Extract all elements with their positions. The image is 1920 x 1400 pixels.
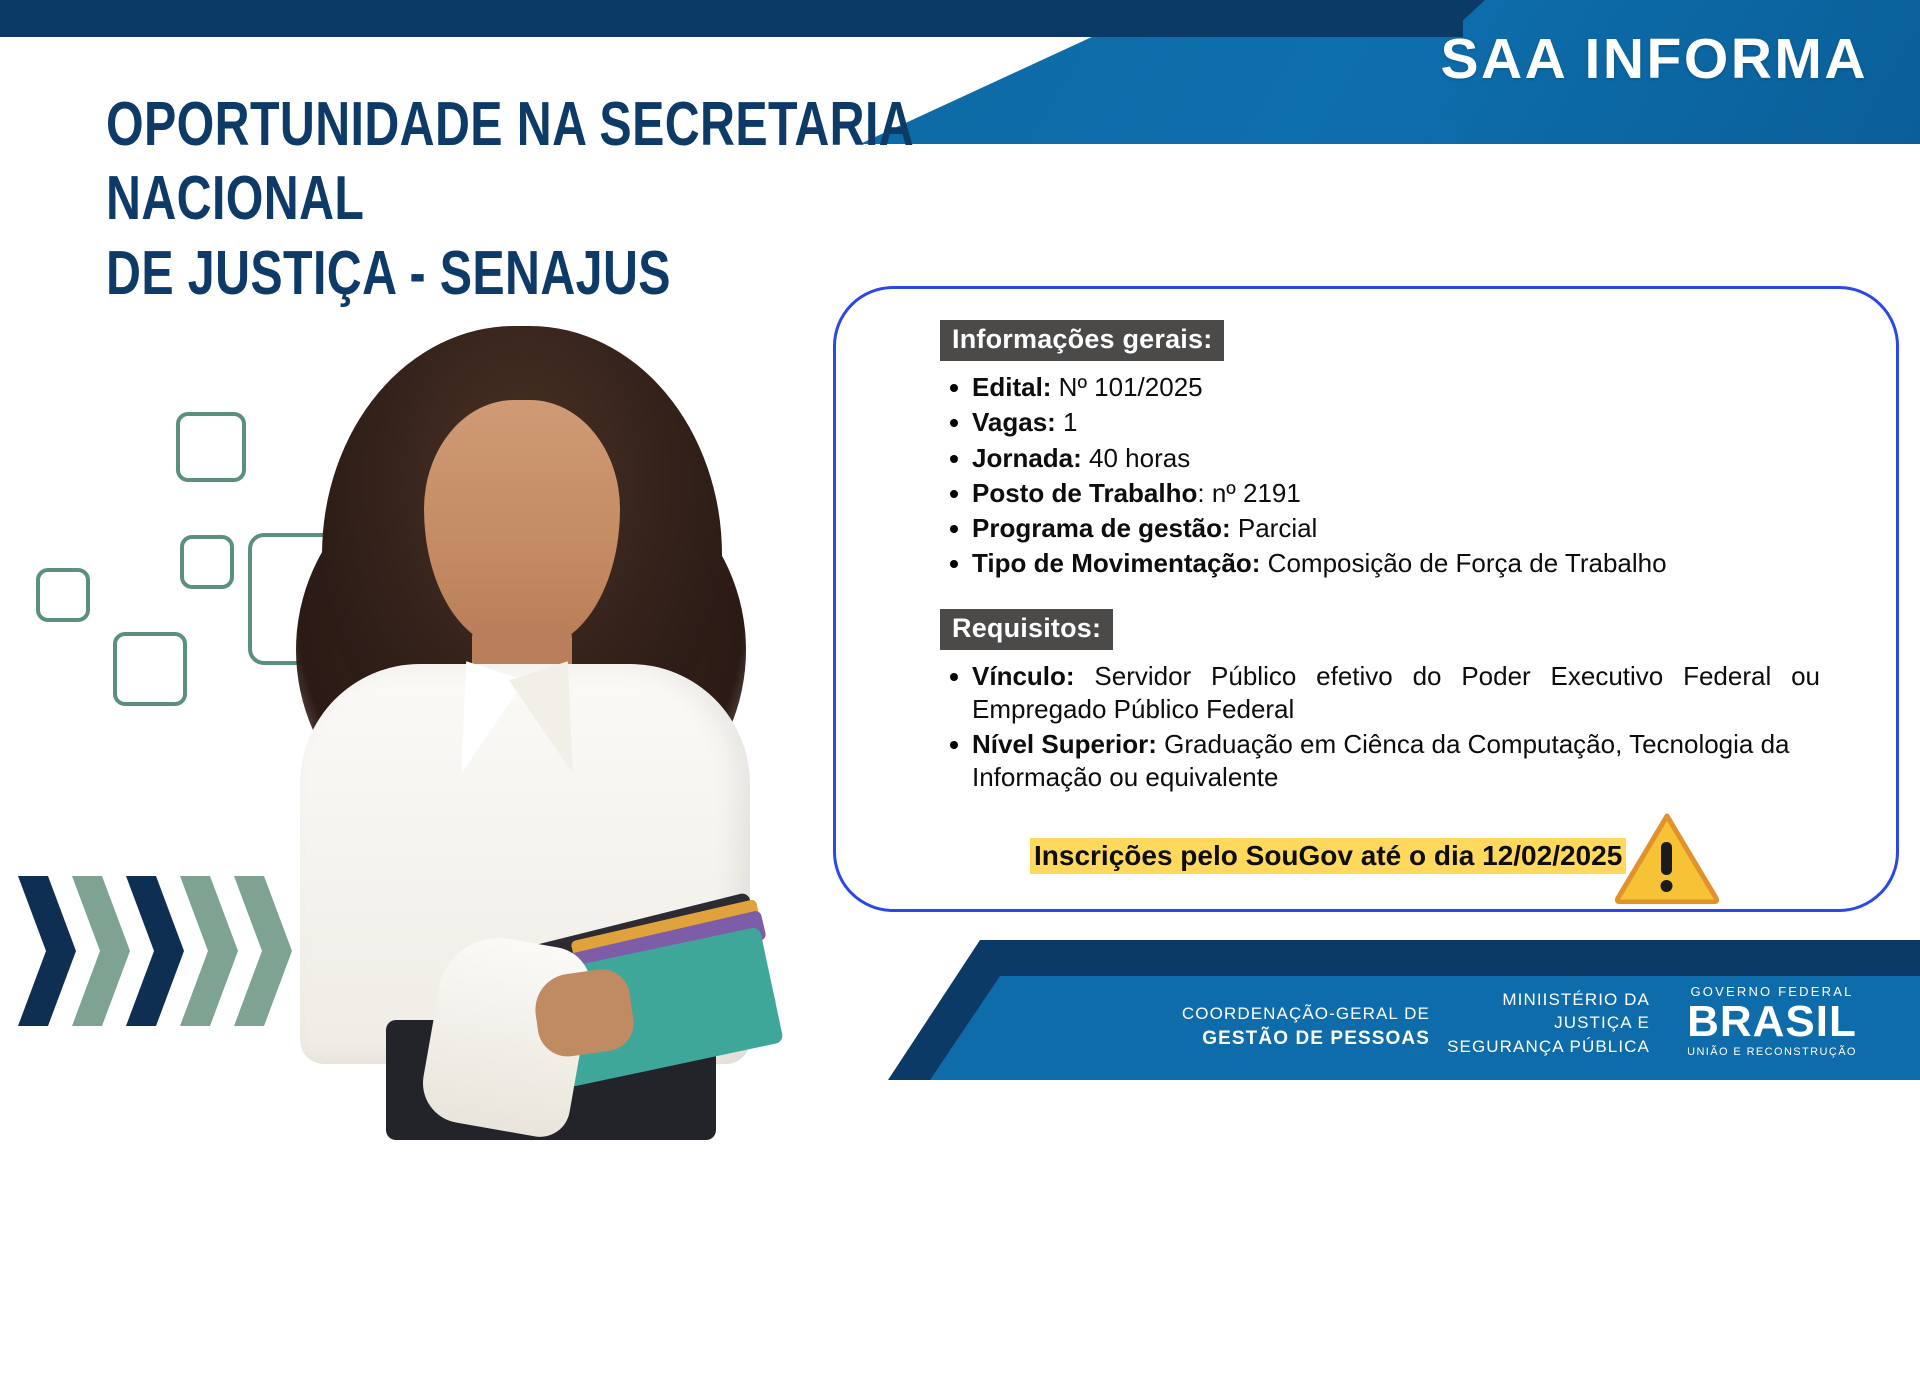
item-value: 40 horas [1082,443,1190,473]
item-label: Programa de gestão: [972,513,1231,543]
section-heading-requirements: Requisitos: [940,609,1113,650]
item-value: Servidor Público efetivo do Poder Execut… [972,661,1820,724]
chevron-icon [18,876,76,1026]
logo-cggp-line1: COORDENAÇÃO-GERAL DE [1180,1003,1430,1026]
item-value: Parcial [1231,513,1318,543]
list-item: Nível Superior: Graduação em Ciênca da C… [940,728,1820,795]
logo-brasil: GOVERNO FEDERAL BRASIL UNIÃO E RECONSTRU… [1672,984,1872,1058]
item-value: 1 [1056,407,1078,437]
item-label: Posto de Trabalho [972,478,1197,508]
info-card-content: Informações gerais: Edital: Nº 101/2025 … [940,320,1820,797]
list-item: Jornada: 40 horas [940,442,1820,475]
deadline-row: Inscrições pelo SouGov até o dia 12/02/2… [1030,838,1626,874]
list-item: Edital: Nº 101/2025 [940,371,1820,404]
logo-ministry-line2: JUSTIÇA E [1430,1011,1650,1034]
list-item: Tipo de Movimentação: Composição de Forç… [940,547,1820,580]
warning-triangle-icon [1615,812,1719,904]
item-label: Tipo de Movimentação: [972,548,1260,578]
person-photo [236,320,896,1080]
logo-cggp-line2: GESTÃO DE PESSOAS [1180,1026,1430,1052]
list-item: Vínculo: Servidor Público efetivo do Pod… [940,660,1820,727]
logo-ministry-line3: SEGURANÇA PÚBLICA [1430,1035,1650,1058]
item-label: Edital: [972,372,1051,402]
chevron-icon [72,876,130,1026]
decor-square [180,535,234,589]
list-item: Programa de gestão: Parcial [940,512,1820,545]
list-item: Vagas: 1 [940,406,1820,439]
requirements-list: Vínculo: Servidor Público efetivo do Pod… [940,660,1820,795]
header-navy-bar [0,0,1463,37]
logo-brasil-word: BRASIL [1672,1001,1872,1043]
item-value: : nº 2191 [1197,478,1300,508]
chevron-icon [126,876,184,1026]
spacer [940,583,1820,609]
deadline-text: Inscrições pelo SouGov até o dia 12/02/2… [1030,838,1626,874]
logo-ministry-line1: MINIISTÉRIO DA [1430,988,1650,1011]
item-value: Composição de Força de Trabalho [1260,548,1666,578]
page-title: OPORTUNIDADE NA SECRETARIA NACIONAL DE J… [106,88,1011,311]
logo-ministry: MINIISTÉRIO DA JUSTIÇA E SEGURANÇA PÚBLI… [1430,988,1650,1058]
item-value: Nº 101/2025 [1051,372,1202,402]
item-label: Vínculo: [972,661,1075,691]
photo-fade [236,1020,896,1400]
list-item: Posto de Trabalho: nº 2191 [940,477,1820,510]
item-label: Jornada: [972,443,1082,473]
logo-brasil-bottom: UNIÃO E RECONSTRUÇÃO [1672,1046,1872,1058]
item-label: Vagas: [972,407,1056,437]
decor-square [113,632,187,706]
poster-canvas: SAA INFORMA OPORTUNIDADE NA SECRETARIA N… [0,0,1920,1080]
logo-cggp: COORDENAÇÃO-GERAL DE GESTÃO DE PESSOAS [1180,1003,1430,1052]
header-blue-accent-square [1430,118,1456,144]
photo-face [424,400,620,648]
decor-square [36,568,90,622]
section-heading-general: Informações gerais: [940,320,1224,361]
chevron-icon [180,876,238,1026]
item-label: Nível Superior: [972,729,1157,759]
general-info-list: Edital: Nº 101/2025 Vagas: 1 Jornada: 40… [940,371,1820,581]
saa-informa-badge: SAA INFORMA [1440,26,1868,92]
